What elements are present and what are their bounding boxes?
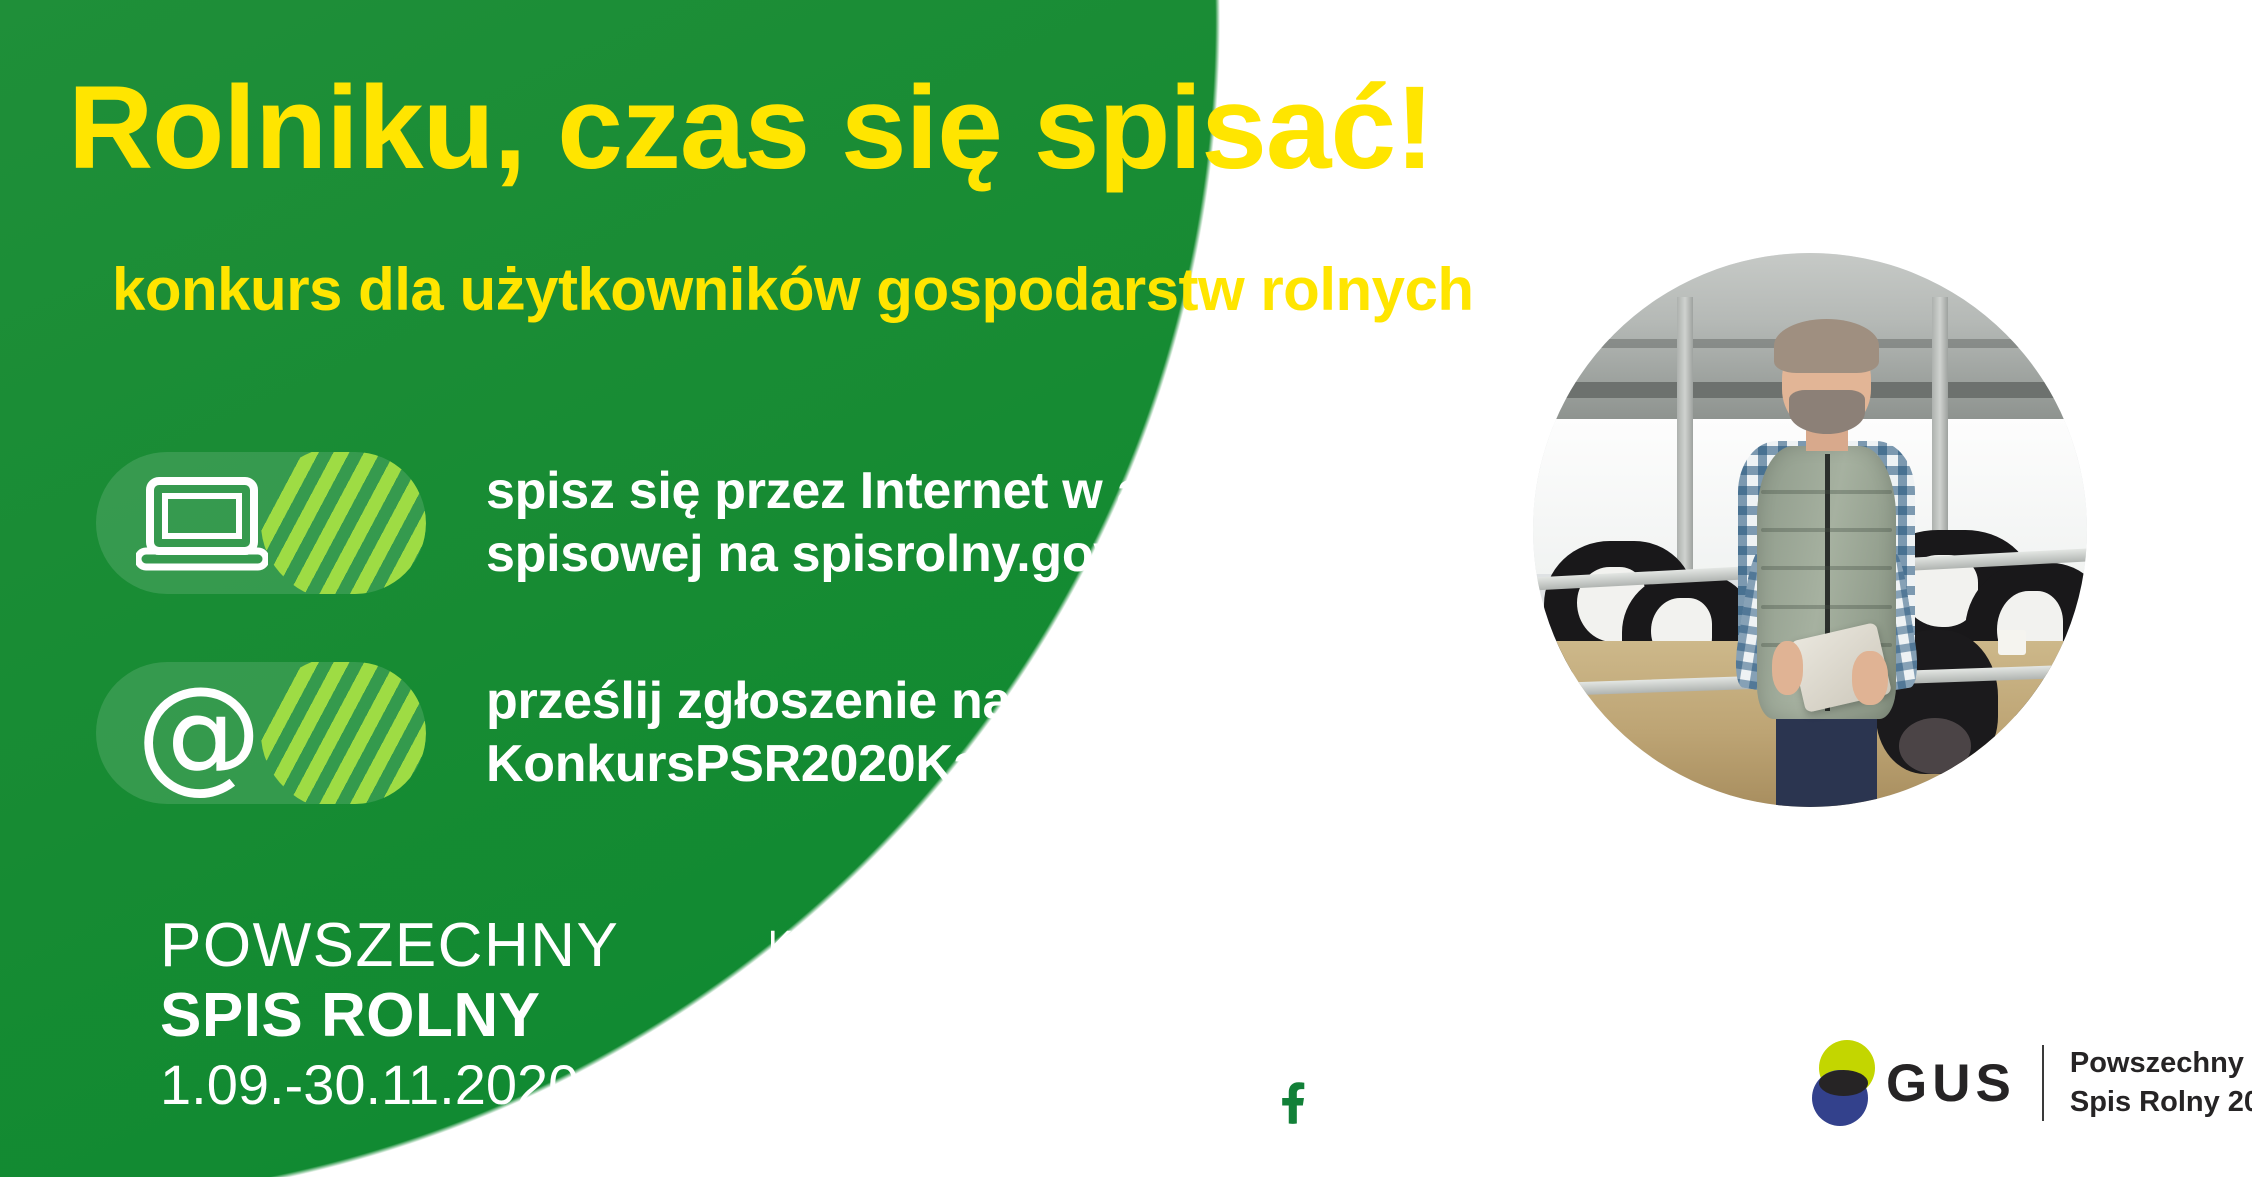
facebook-icon xyxy=(1270,1072,1322,1129)
schedule-note-line2: od 12.10.2020 r. do 20.11.2020 r. xyxy=(680,970,1745,1020)
page-subtitle: konkurs dla użytkowników gospodarstw rol… xyxy=(112,255,1474,324)
cow-ear-tag xyxy=(1998,630,2026,655)
facebook-handle: @StatKatowice xyxy=(1340,1077,1628,1125)
vest-quilt-line xyxy=(1761,528,1892,532)
campaign-dates: 1.09.-30.11.2020 xyxy=(160,1057,619,1113)
farmer-photo xyxy=(1528,248,2092,812)
gus-circles-icon xyxy=(1812,1040,1878,1126)
laptop-icon xyxy=(136,469,286,577)
gus-tagline-line2: Spis Rolny 2020 xyxy=(2070,1083,2252,1122)
gus-wordmark: GUS xyxy=(1886,1053,2016,1114)
at-sign-icon: @ xyxy=(136,679,286,787)
vest-quilt-line xyxy=(1761,605,1892,609)
social-row: @Katowice_STAT @StatKatowice xyxy=(680,1072,1745,1129)
gus-tagline-line1: Powszechny xyxy=(2070,1044,2252,1083)
farmer-hand-right xyxy=(1852,651,1888,705)
farmer-beard xyxy=(1789,390,1865,434)
bullet-email-line2: KonkursPSR2020Katowice@stat.gov.pl xyxy=(486,733,1444,796)
twitter-icon xyxy=(797,1075,853,1126)
vest-quilt-line xyxy=(1761,490,1892,494)
logo-divider xyxy=(2042,1045,2044,1121)
campaign-line1: POWSZECHNY xyxy=(160,915,619,977)
bullet-email: @ prześlij zgłoszenie na adres e-mail Ko… xyxy=(96,662,1444,804)
vest-quilt-line xyxy=(1761,566,1892,570)
social-twitter[interactable]: @Katowice_STAT xyxy=(797,1075,1209,1126)
social-facebook[interactable]: @StatKatowice xyxy=(1270,1072,1628,1129)
schedule-note: Konkursy będą się odbywać w cyklach tygo… xyxy=(680,920,1745,1020)
schedule-note-line1: Konkursy będą się odbywać w cyklach tygo… xyxy=(680,920,1745,970)
farmer-hand-left xyxy=(1772,641,1804,695)
gus-logo: GUS Powszechny Spis Rolny 2020 xyxy=(1812,1040,2252,1126)
farmer-hair xyxy=(1774,319,1879,373)
bullet-internet: spisz się przez Internet w aplikacji spi… xyxy=(96,452,1319,594)
photo-content xyxy=(1533,253,2087,807)
bullet-email-line1: prześlij zgłoszenie na adres e-mail xyxy=(486,670,1444,733)
campaign-banner: Rolniku, czas się spisać! konkurs dla uż… xyxy=(0,0,2252,1177)
bullet-internet-line2: spisowej na spisrolny.gov.pl xyxy=(486,523,1319,586)
laptop-icon-pill xyxy=(96,452,426,594)
twitter-handle: @Katowice_STAT xyxy=(871,1077,1209,1125)
campaign-lockup: POWSZECHNY SPIS ROLNY 1.09.-30.11.2020 xyxy=(160,915,619,1113)
farmer-figure xyxy=(1721,319,1932,807)
bullet-email-text: prześlij zgłoszenie na adres e-mail Konk… xyxy=(486,670,1444,797)
bullet-internet-text: spisz się przez Internet w aplikacji spi… xyxy=(486,460,1319,587)
gus-circle-overlap xyxy=(1819,1070,1868,1096)
bullet-internet-line1: spisz się przez Internet w aplikacji xyxy=(486,460,1319,523)
at-sign-icon-pill: @ xyxy=(96,662,426,804)
page-title: Rolniku, czas się spisać! xyxy=(68,68,1518,188)
gus-tagline: Powszechny Spis Rolny 2020 xyxy=(2070,1044,2252,1122)
at-sign-glyph: @ xyxy=(136,683,262,784)
campaign-line2: SPIS ROLNY xyxy=(160,985,619,1047)
